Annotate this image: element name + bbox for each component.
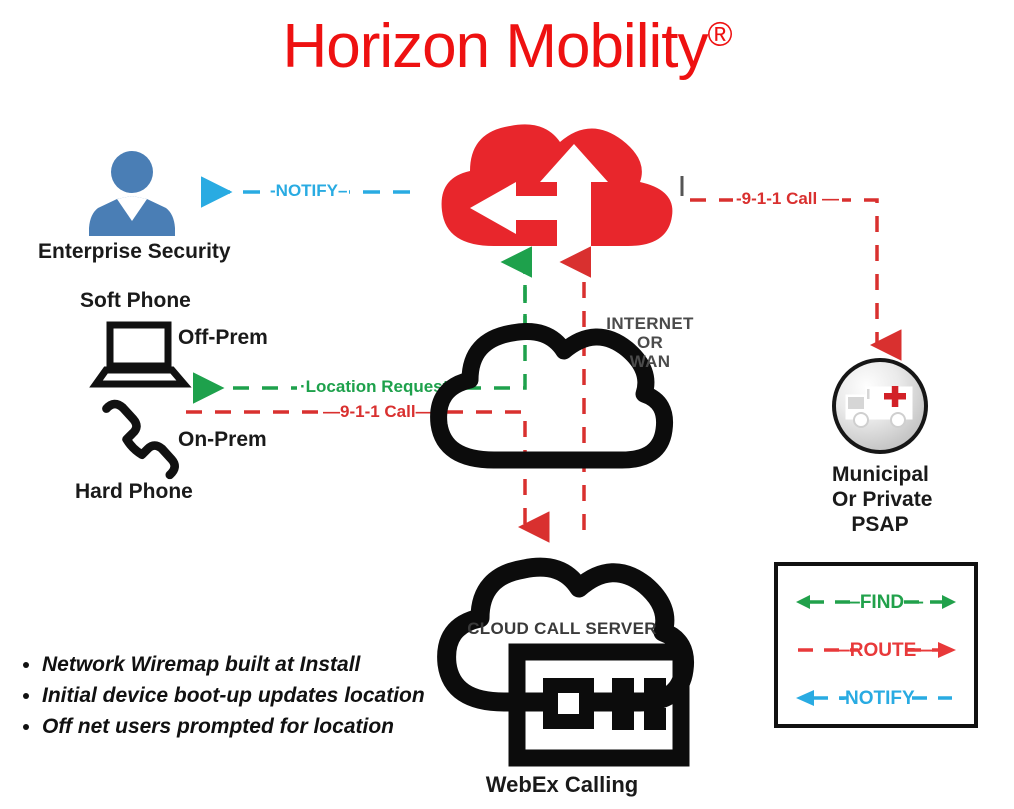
internet-line-2: OR (604, 333, 696, 352)
on-prem-label: On-Prem (178, 428, 267, 452)
legend-route-label: —ROUTE— (831, 640, 936, 661)
internet-line-1: INTERNET (604, 314, 696, 333)
psap-label-line-3: PSAP (832, 512, 928, 537)
soft-phone-label: Soft Phone (80, 289, 191, 313)
internet-or-wan-label: INTERNET OR WAN (604, 314, 696, 371)
enterprise-security-label: Enterprise Security (38, 240, 228, 264)
server-icon[interactable] (513, 648, 685, 762)
note-item: Initial device boot-up updates location (42, 681, 446, 711)
legend-item-find: —FIND— (778, 584, 974, 620)
legend-notify-label: -NOTIFY– (839, 688, 926, 709)
note-item: Off net users prompted for location (42, 712, 446, 742)
hard-phone-label: Hard Phone (75, 480, 193, 504)
psap-label-line-2: Or Private (832, 487, 928, 512)
psap-label: Municipal Or Private PSAP (832, 462, 928, 538)
ambulance-icon (844, 383, 916, 429)
laptop-icon[interactable] (94, 322, 186, 388)
call-to-psap-label: -9-1-1 Call — (733, 189, 842, 209)
person-icon (38, 150, 228, 236)
legend-item-route: —ROUTE— (778, 632, 974, 668)
handset-icon[interactable] (96, 404, 182, 476)
node-psap[interactable]: Municipal Or Private PSAP (832, 358, 928, 538)
red-cloud-icon[interactable] (432, 116, 682, 246)
off-prem-label: Off-Prem (178, 326, 268, 350)
node-enterprise-security[interactable]: Enterprise Security (38, 150, 228, 264)
internet-line-3: WAN (604, 352, 696, 371)
webex-calling-label: WebEx Calling (462, 772, 662, 798)
call-from-phones-label: —9-1-1 Call— (320, 402, 436, 422)
legend-notify-arrows: -NOTIFY– (786, 685, 966, 711)
notes-list: Network Wiremap built at Install Initial… (16, 650, 446, 742)
legend-find-label: —FIND— (841, 592, 923, 613)
legend-route-arrows: —ROUTE— (786, 637, 966, 663)
notify-line-label: -NOTIFY– (268, 181, 349, 201)
psap-label-line-1: Municipal (832, 462, 928, 487)
cloud-call-server-inner-label: CLOUD CALL SERVER (462, 619, 662, 639)
call-to-psap-line (690, 200, 877, 345)
legend-item-notify: -NOTIFY– (778, 680, 974, 716)
psap-circle (832, 358, 928, 454)
legend-find-arrows: —FIND— (786, 589, 966, 615)
legend: —FIND— —ROUTE— -NOTIFY– (774, 562, 978, 728)
note-item: Network Wiremap built at Install (42, 650, 446, 680)
